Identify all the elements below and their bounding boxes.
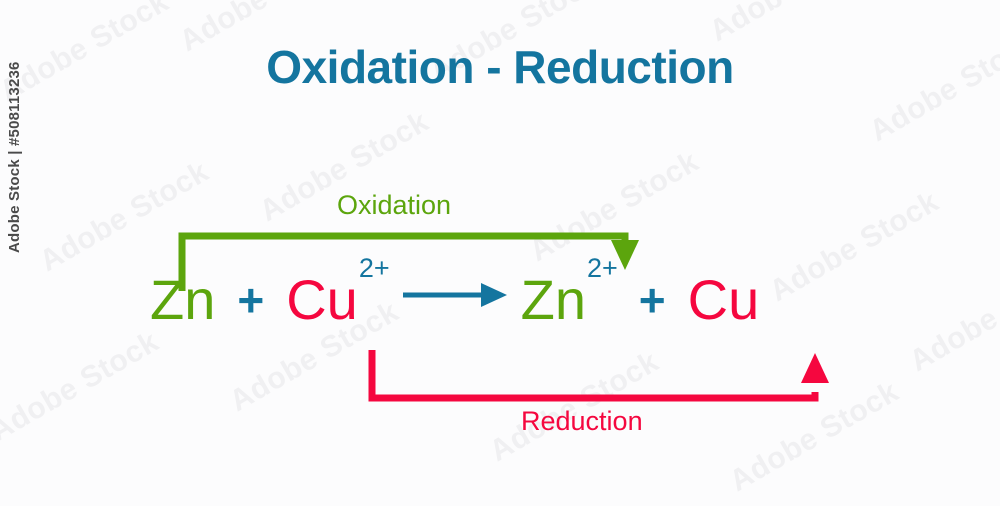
reaction-arrow-icon — [403, 260, 507, 284]
species-symbol-zn: Zn — [150, 268, 215, 331]
stock-credit-label: Adobe Stock | #508113236 — [6, 61, 23, 253]
charge-superscript-cu: 2+ — [359, 253, 390, 283]
reduction-arrowhead — [801, 353, 829, 383]
species-symbol-cu-metal: Cu — [688, 268, 760, 331]
reactant-zinc: Zn — [150, 272, 215, 328]
species-symbol-cu: Cu — [286, 268, 358, 331]
page-title: Oxidation - Reduction — [0, 40, 1000, 94]
chemical-equation: Zn + Cu2+ Zn2+ + Cu — [150, 272, 759, 342]
species-symbol-zn2plus: Zn — [521, 268, 586, 331]
reduction-label: Reduction — [521, 406, 643, 437]
diagram-canvas: Adobe Stock Adobe Stock Adobe Stock Adob… — [0, 0, 1000, 506]
product-copper: Cu — [688, 272, 760, 328]
product-zinc-ion: Zn2+ — [521, 272, 617, 328]
oxidation-label: Oxidation — [337, 190, 451, 221]
plus-sign-products: + — [617, 277, 688, 323]
reactant-copper-ion: Cu2+ — [286, 272, 388, 328]
reduction-bracket — [372, 350, 829, 398]
plus-sign-reactants: + — [215, 277, 286, 323]
charge-superscript-zn: 2+ — [587, 253, 618, 283]
